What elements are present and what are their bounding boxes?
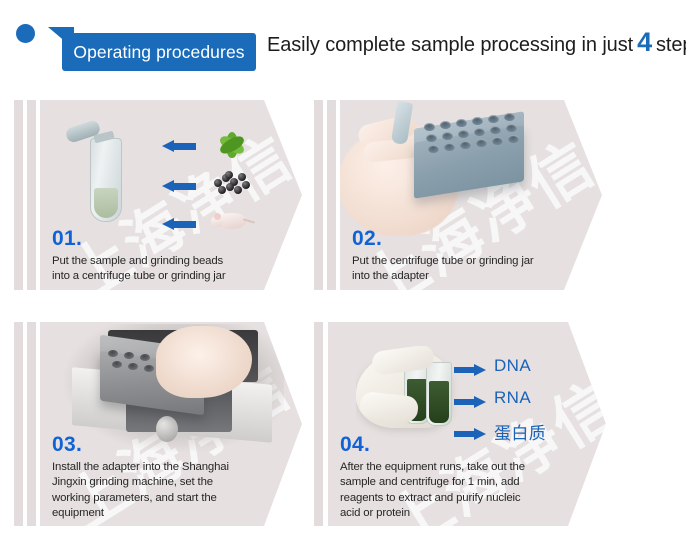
decor-stripe xyxy=(14,100,23,290)
step-panel-01: 上海净信 xyxy=(0,96,340,294)
arrow-left-icon xyxy=(162,140,196,153)
title-text-after: steps: xyxy=(656,34,686,57)
step-panel-02: 上海净信 xyxy=(306,96,686,294)
infographic-page: Operating procedures Easily complete sam… xyxy=(0,0,686,538)
step-description: Put the centrifuge tube or grinding jar … xyxy=(352,254,592,285)
decor-stripe xyxy=(314,322,323,526)
gloved-hand-photo xyxy=(356,346,516,438)
step-caption-04: 04. After the equipment runs, take out t… xyxy=(340,434,592,522)
arrow-left-icon xyxy=(162,180,196,193)
decor-stripe xyxy=(27,322,36,526)
page-title: Easily complete sample processing in jus… xyxy=(267,29,686,63)
decor-stripe xyxy=(314,100,323,290)
tube-sample-fill xyxy=(94,188,118,218)
step-caption-02: 02. Put the centrifuge tube or grinding … xyxy=(352,228,592,285)
leaf-icon xyxy=(213,128,251,162)
bullet-dot-icon xyxy=(16,24,35,43)
step-description: Install the adapter into the Shanghai Ji… xyxy=(52,460,300,522)
title-text-before: Easily complete sample processing in jus… xyxy=(267,34,633,57)
output-label-dna: DNA xyxy=(494,356,531,376)
title-step-count: 4 xyxy=(633,29,656,56)
step-number: 04. xyxy=(340,434,592,455)
step-panel-03: 上海净信 xyxy=(0,318,340,530)
grinding-beads-icon xyxy=(212,170,252,196)
step-number: 01. xyxy=(52,228,292,249)
step-number: 03. xyxy=(52,434,300,455)
arrow-right-icon xyxy=(454,364,486,376)
decor-stripe xyxy=(327,100,336,290)
operating-procedures-badge: Operating procedures xyxy=(48,27,256,71)
decor-stripe xyxy=(27,100,36,290)
step-caption-01: 01. Put the sample and grinding beads in… xyxy=(52,228,292,285)
step-caption-03: 03. Install the adapter into the Shangha… xyxy=(52,434,300,522)
grinding-machine-photo xyxy=(64,324,284,452)
hand-adapter-photo xyxy=(340,100,564,236)
step-number: 02. xyxy=(352,228,592,249)
sample-tube-icon xyxy=(426,362,452,426)
tube-body-icon xyxy=(90,138,122,222)
page-header: Operating procedures Easily complete sam… xyxy=(0,0,686,88)
output-label-rna: RNA xyxy=(494,388,531,408)
arrow-right-icon xyxy=(454,396,486,408)
step-description: After the equipment runs, take out the s… xyxy=(340,460,592,522)
step-panel-04: 上海净信 DNA RNA 蛋白质 04. After the equipment… xyxy=(306,318,686,530)
decor-stripe xyxy=(14,322,23,526)
centrifuge-tube-icon xyxy=(90,124,150,234)
step-description: Put the sample and grinding beads into a… xyxy=(52,254,292,285)
badge-label: Operating procedures xyxy=(62,33,256,71)
